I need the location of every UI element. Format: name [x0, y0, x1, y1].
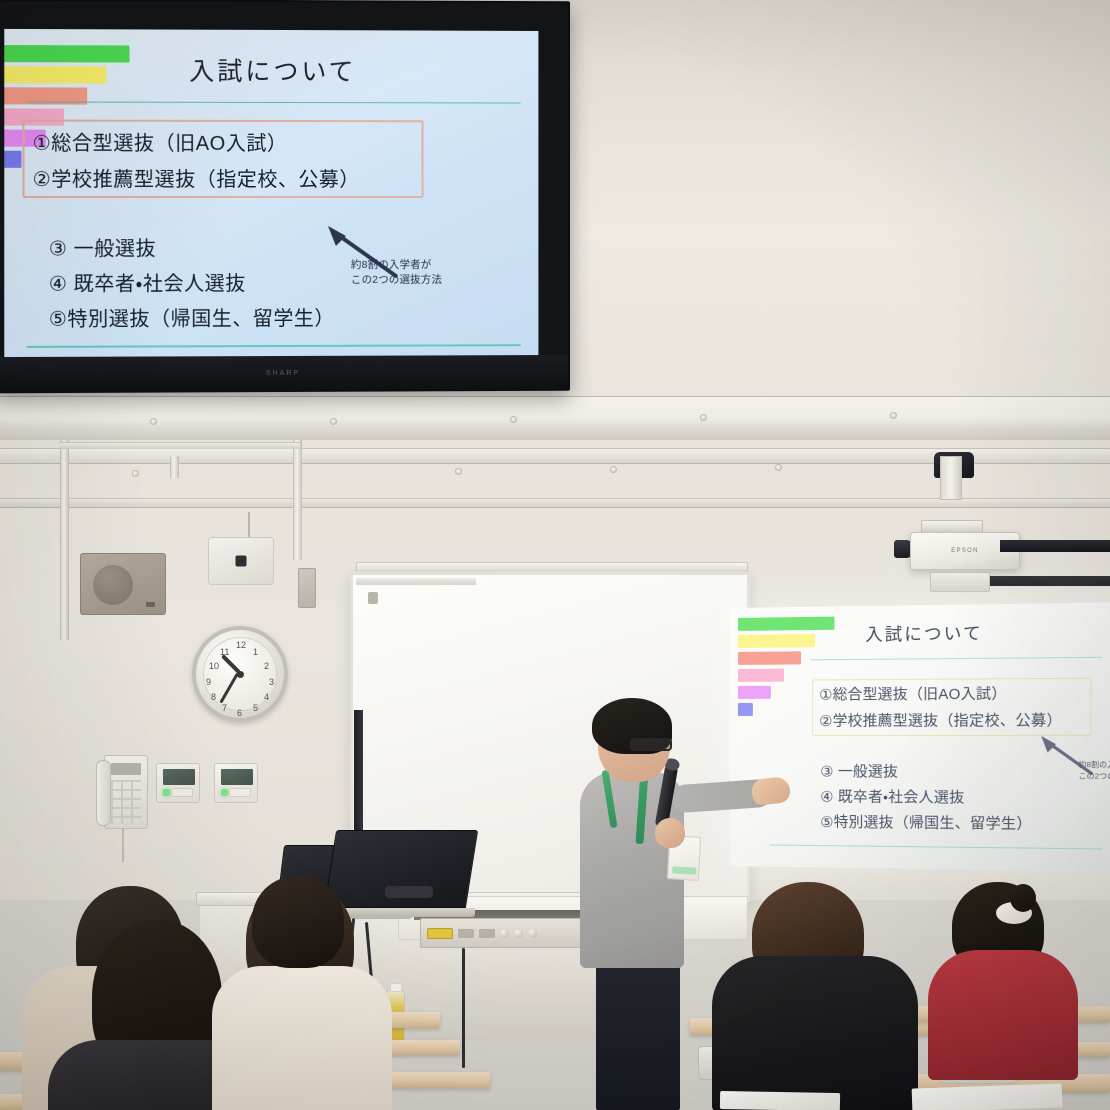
phone-display: [111, 763, 141, 775]
paper-sheet: [912, 1083, 1063, 1110]
speaker-cone-icon: [93, 565, 133, 605]
clock-numeral: 7: [222, 703, 227, 713]
projector-mount-foot: [930, 572, 990, 592]
clock-face: 12 1 2 3 4 5 6 7 8 9 10 11: [203, 637, 277, 711]
clock-numeral: 9: [206, 677, 211, 687]
audience-bob-cut-hair: [252, 876, 344, 968]
clock-numeral: 3: [269, 677, 274, 687]
slide-title: 入試について: [4, 51, 538, 89]
panel-display: [163, 769, 195, 785]
projected-list-item-4: ④ 既卒者・社会人選抜: [820, 785, 1032, 812]
rail-screw: [330, 418, 337, 425]
panel-button[interactable]: [229, 788, 251, 797]
projected-list-item-5: ⑤特別選抜（帰国生、留学生）: [820, 811, 1032, 839]
projected-slide-screen: 入試について ①総合型選抜（旧AO入試） ②学校推薦型選抜（指定校、公募） 約8…: [730, 602, 1110, 871]
rail-screw: [455, 468, 462, 475]
ac-control-panel-left[interactable]: [156, 763, 200, 803]
wall-speaker-white: [208, 537, 274, 585]
slide-annotation-line-1: 約8割の入学者が: [351, 258, 442, 273]
laptop-right[interactable]: [330, 830, 475, 917]
audience-red-jersey-shoulders: [928, 950, 1078, 1080]
slide-list-item-5: ⑤特別選抜（帰国生、留学生）: [49, 302, 335, 338]
bar-blue-icon: [4, 151, 22, 168]
wall-speaker-beige: [80, 553, 166, 615]
slide-list: ③ 一般選抜 ④ 既卒者・社会人選抜 ⑤特別選抜（帰国生、留学生）: [49, 232, 335, 338]
projector-mount-arm: [940, 456, 962, 500]
ac-control-panel-right[interactable]: [214, 763, 258, 803]
projected-annotation-line-2: この2つの選抜: [1079, 770, 1110, 782]
bar-pink-icon: [738, 669, 784, 682]
slide-divider-bottom: [27, 344, 521, 348]
projected-list: ③ 一般選抜 ④ 既卒者・社会人選抜 ⑤特別選抜（帰国生、留学生）: [820, 760, 1032, 838]
wall-conduit: [293, 440, 302, 560]
wall-monitor[interactable]: 入試について ①総合型選抜（旧AO入試） ②学校推薦型選抜（指定校、公募） 約8…: [0, 0, 570, 393]
wall-phone[interactable]: [104, 755, 148, 829]
av-knob-icon[interactable]: [500, 929, 509, 938]
presenter-mic-hand: [655, 818, 685, 848]
projected-divider-bottom: [770, 844, 1102, 849]
lecture-hall-photo: 入試について ①総合型選抜（旧AO入試） ②学校推薦型選抜（指定校、公募） 約8…: [0, 0, 1110, 1110]
slide-annotation: 約8割の入学者が この2つの選抜方法: [351, 258, 442, 288]
wall-conduit: [60, 442, 300, 449]
wall-clock: 12 1 2 3 4 5 6 7 8 9 10 11: [192, 626, 288, 722]
monitor-bezel: SHARP: [0, 355, 568, 391]
projected-boxed-item-2: ②学校推薦型選抜（指定校、公募）: [819, 708, 1084, 735]
bar-blue-icon: [738, 703, 753, 716]
av-control-rack[interactable]: [420, 918, 592, 948]
slide-list-item-4: ④ 既卒者・社会人選抜: [49, 267, 335, 303]
projected-annotation-line-1: 約8割の入学: [1079, 759, 1110, 771]
slide-highlight-box: ①総合型選抜（旧AO入試） ②学校推薦型選抜（指定校、公募）: [22, 120, 423, 198]
speaker-port-icon: [236, 556, 247, 567]
rail-screw: [150, 418, 157, 425]
slide-content: 入試について ①総合型選抜（旧AO入試） ②学校推薦型選抜（指定校、公募） 約8…: [4, 29, 538, 361]
wall-conduit: [170, 456, 179, 478]
rail-screw: [132, 470, 139, 477]
badge-strip-icon: [672, 866, 696, 874]
glasses-icon: [630, 738, 672, 751]
projected-highlight-box: ①総合型選抜（旧AO入試） ②学校推薦型選抜（指定校、公募）: [812, 678, 1091, 736]
clock-numeral: 12: [236, 640, 246, 650]
clock-numeral: 6: [237, 708, 242, 718]
projected-boxed-item-1: ①総合型選抜（旧AO入試）: [819, 681, 1084, 709]
projected-list-item-3: ③ 一般選抜: [820, 760, 1032, 786]
av-cable: [462, 948, 465, 1068]
projector-brand-label: EPSON: [951, 548, 979, 554]
panel-display: [221, 769, 253, 785]
clock-numeral: 4: [264, 692, 269, 702]
phone-handset-icon: [96, 760, 111, 826]
monitor-screen: 入試について ①総合型選抜（旧AO入試） ②学校推薦型選抜（指定校、公募） 約8…: [4, 29, 538, 361]
clock-center-pin: [237, 671, 244, 678]
whiteboard-magnet-icon: [368, 592, 378, 604]
av-knob-icon[interactable]: [528, 929, 537, 938]
slide-boxed-item-2: ②学校推薦型選抜（指定校、公募）: [33, 162, 414, 198]
av-knob-icon[interactable]: [514, 929, 523, 938]
wall-plate: [298, 568, 316, 608]
av-yellow-connector-icon: [427, 928, 453, 939]
speaker-cable: [248, 512, 250, 540]
ceiling-beam: [0, 396, 1110, 442]
rail-screw: [890, 412, 897, 419]
clock-numeral: 1: [253, 647, 258, 657]
desk-pouch: [385, 886, 433, 898]
panel-power-led-icon: [221, 789, 228, 796]
av-port-icon: [479, 929, 495, 938]
rail-screw: [775, 464, 782, 471]
audience-black-puffer-shoulders: [712, 956, 918, 1110]
ceiling-track-rail: [1000, 540, 1110, 552]
slide-annotation-line-2: この2つの選抜方法: [351, 273, 442, 288]
slide-boxed-item-1: ①総合型選抜（旧AO入試）: [33, 126, 414, 163]
rail-screw: [610, 466, 617, 473]
panel-button[interactable]: [171, 788, 193, 797]
projected-divider-top: [810, 657, 1102, 661]
clock-numeral: 10: [209, 661, 219, 671]
slide-list-item-3: ③ 一般選抜: [49, 232, 335, 267]
bar-salmon-icon: [738, 651, 801, 665]
clock-numeral: 8: [211, 692, 216, 702]
hair-bun: [1010, 884, 1036, 912]
paper-sheet: [720, 1091, 840, 1110]
clock-minute-hand: [220, 673, 239, 704]
monitor-brand-label: SHARP: [266, 369, 300, 376]
bar-magenta-icon: [738, 686, 771, 699]
whiteboard-tray: [356, 578, 476, 585]
projected-annotation: 約8割の入学 この2つの選抜: [1079, 759, 1110, 782]
audience-cream-blouse-shoulders: [212, 966, 392, 1110]
presenter-legs: [596, 958, 680, 1110]
rail-screw: [510, 416, 517, 423]
speaker-led-icon: [146, 602, 155, 607]
projected-slide-title: 入試について: [730, 617, 1110, 647]
av-port-icon: [458, 929, 474, 938]
phone-cord: [122, 828, 124, 862]
wall-conduit: [60, 440, 69, 640]
clock-numeral: 2: [264, 661, 269, 671]
phone-keypad-icon[interactable]: [111, 780, 141, 824]
clock-numeral: 5: [253, 703, 258, 713]
panel-power-led-icon: [163, 789, 170, 796]
bottle-cap-icon: [390, 983, 402, 992]
rail-screw: [700, 414, 707, 421]
ceiling-track-rail: [990, 576, 1110, 586]
